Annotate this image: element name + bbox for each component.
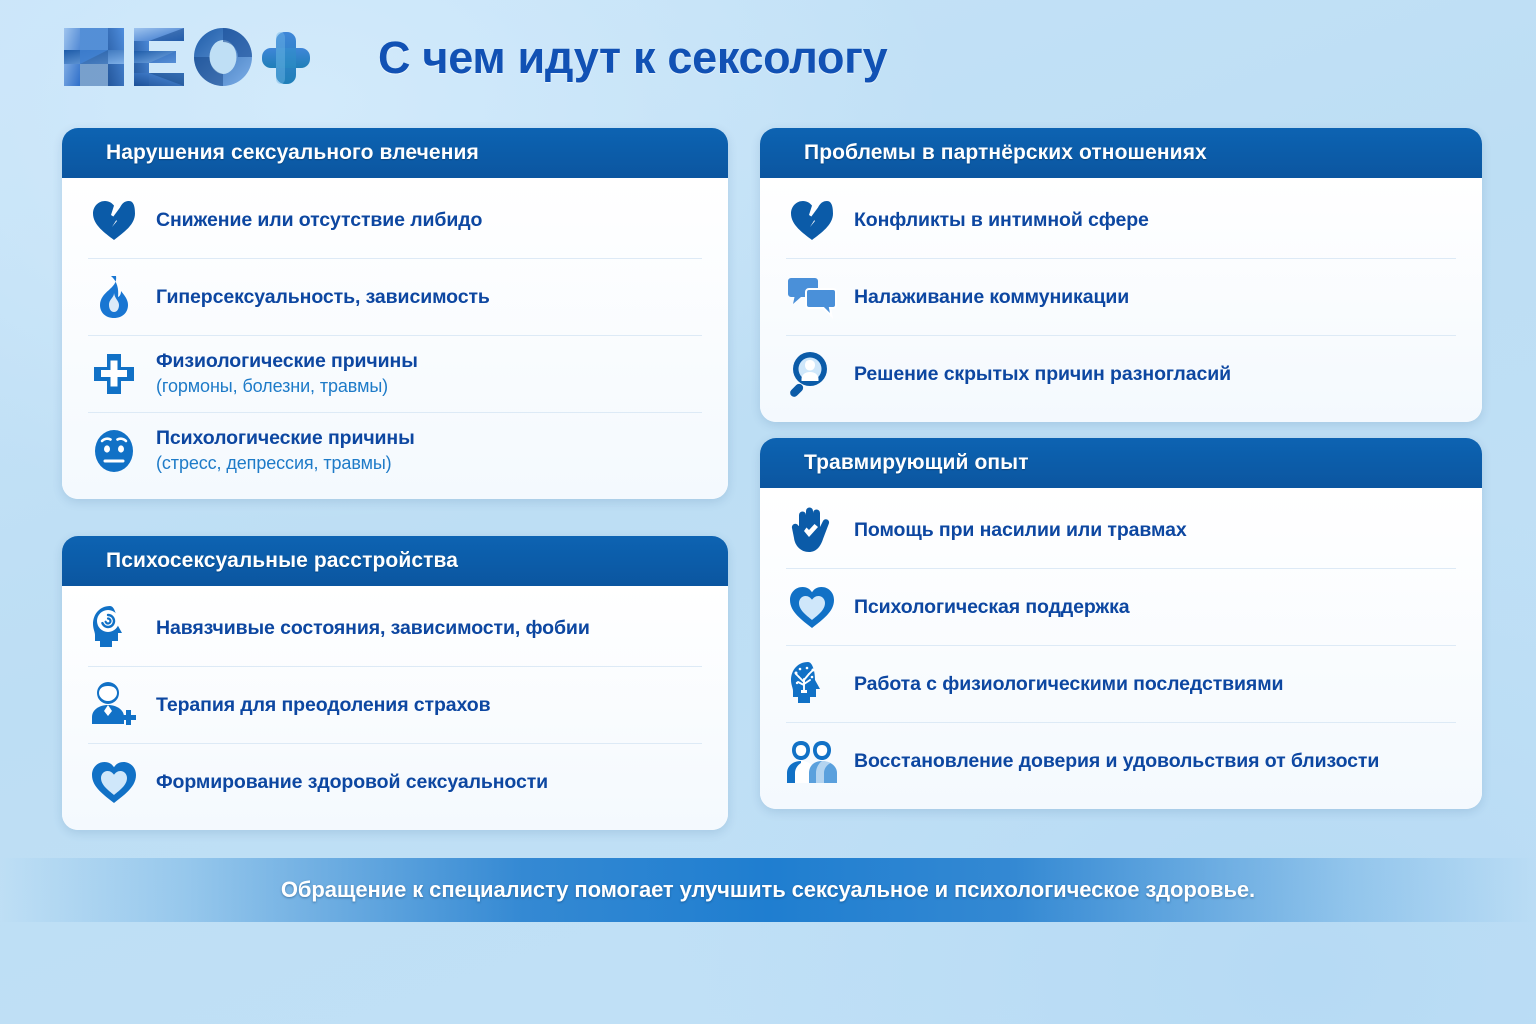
list-item-text: Помощь при насилии или травмах: [854, 519, 1187, 542]
list-item[interactable]: Навязчивые состояния, зависимости, фобии: [88, 590, 702, 667]
list-item-label: Формирование здоровой сексуальности: [156, 771, 548, 794]
list-item-label: Терапия для преодоления страхов: [156, 694, 491, 717]
card-libido-title: Нарушения сексуального влечения: [106, 141, 479, 165]
list-item-text: Снижение или отсутствие либидо: [156, 209, 482, 232]
page-title: С чем идут к сексологу: [378, 22, 1078, 94]
sad-face-icon: [88, 425, 140, 477]
open-hand-icon: [786, 504, 838, 556]
person-plus-icon: [88, 679, 140, 731]
list-item-text: Психологические причины (стресс, депресс…: [156, 427, 415, 475]
card-partner: Проблемы в партнёрских отношениях Конфли…: [760, 128, 1482, 422]
list-item-text: Терапия для преодоления страхов: [156, 694, 491, 717]
list-item[interactable]: Формирование здоровой сексуальности: [88, 744, 702, 820]
list-item-label: Работа с физиологическими последствиями: [854, 673, 1283, 696]
card-libido-body: Снижение или отсутствие либидо Гиперсекс…: [62, 178, 728, 499]
card-libido-header: Нарушения сексуального влечения: [62, 128, 728, 178]
heart-in-heart-icon: [786, 581, 838, 633]
page-header: С чем идут к сексологу: [0, 0, 1536, 112]
card-psychosexual-body: Навязчивые состояния, зависимости, фобии…: [62, 586, 728, 830]
list-item-label: Решение скрытых причин разногласий: [854, 363, 1231, 386]
list-item-text: Решение скрытых причин разногласий: [854, 363, 1231, 386]
list-item-text: Физиологические причины (гормоны, болезн…: [156, 350, 418, 398]
list-item-label: Восстановление доверия и удовольствия от…: [854, 750, 1379, 773]
list-item[interactable]: Работа с физиологическими последствиями: [786, 646, 1456, 723]
list-item[interactable]: Помощь при насилии или травмах: [786, 492, 1456, 569]
head-spiral-icon: [88, 602, 140, 654]
card-libido: Нарушения сексуального влечения Снижение…: [62, 128, 728, 499]
list-item-label: Психологическая поддержка: [854, 596, 1130, 619]
list-item[interactable]: Терапия для преодоления страхов: [88, 667, 702, 744]
footer-message: Обращение к специалисту помогает улучшит…: [281, 877, 1255, 903]
list-item-text: Формирование здоровой сексуальности: [156, 771, 548, 794]
list-item[interactable]: Снижение или отсутствие либидо: [88, 182, 702, 259]
card-partner-title: Проблемы в партнёрских отношениях: [804, 141, 1207, 165]
list-item-sublabel: (стресс, депрессия, травмы): [156, 452, 415, 475]
list-item[interactable]: Психологическая поддержка: [786, 569, 1456, 646]
list-item[interactable]: Конфликты в интимной сфере: [786, 182, 1456, 259]
list-item-label: Конфликты в интимной сфере: [854, 209, 1149, 232]
list-item-label: Налаживание коммуникации: [854, 286, 1129, 309]
card-partner-header: Проблемы в партнёрских отношениях: [760, 128, 1482, 178]
card-trauma-body: Помощь при насилии или травмах Психологи…: [760, 488, 1482, 809]
footer-banner: Обращение к специалисту помогает улучшит…: [0, 858, 1536, 922]
list-item[interactable]: Физиологические причины (гормоны, болезн…: [88, 336, 702, 413]
flame-icon: [88, 271, 140, 323]
list-item[interactable]: Восстановление доверия и удовольствия от…: [786, 723, 1456, 799]
card-partner-body: Конфликты в интимной сфере Налаживание к…: [760, 178, 1482, 422]
list-item-label: Физиологические причины: [156, 350, 418, 373]
head-tree-icon: [786, 658, 838, 710]
list-item-text: Работа с физиологическими последствиями: [854, 673, 1283, 696]
list-item-text: Психологическая поддержка: [854, 596, 1130, 619]
card-psychosexual: Психосексуальные расстройства Навязчивые…: [62, 536, 728, 830]
list-item[interactable]: Гиперсексуальность, зависимость: [88, 259, 702, 336]
list-item-label: Помощь при насилии или травмах: [854, 519, 1187, 542]
list-item-label: Психологические причины: [156, 427, 415, 450]
speech-bubbles-icon: [786, 271, 838, 323]
list-item[interactable]: Психологические причины (стресс, депресс…: [88, 413, 702, 489]
list-item-label: Снижение или отсутствие либидо: [156, 209, 482, 232]
card-psychosexual-header: Психосексуальные расстройства: [62, 536, 728, 586]
card-trauma-header: Травмирующий опыт: [760, 438, 1482, 488]
list-item-text: Налаживание коммуникации: [854, 286, 1129, 309]
card-psychosexual-title: Психосексуальные расстройства: [106, 549, 458, 573]
medical-cross-icon: [88, 348, 140, 400]
card-trauma-title: Травмирующий опыт: [804, 451, 1029, 475]
broken-heart-icon: [786, 194, 838, 246]
card-trauma: Травмирующий опыт Помощь при насилии или…: [760, 438, 1482, 809]
list-item-label: Гиперсексуальность, зависимость: [156, 286, 490, 309]
list-item-sublabel: (гормоны, болезни, травмы): [156, 375, 418, 398]
neo-plus-logo: [60, 22, 310, 94]
broken-heart-icon: [88, 194, 140, 246]
list-item-text: Конфликты в интимной сфере: [854, 209, 1149, 232]
couple-icon: [786, 735, 838, 787]
list-item-text: Восстановление доверия и удовольствия от…: [854, 750, 1379, 773]
list-item-text: Гиперсексуальность, зависимость: [156, 286, 490, 309]
list-item-label: Навязчивые состояния, зависимости, фобии: [156, 617, 590, 640]
list-item-text: Навязчивые состояния, зависимости, фобии: [156, 617, 590, 640]
magnifier-person-icon: [786, 348, 838, 400]
heart-in-heart-icon: [88, 756, 140, 808]
list-item[interactable]: Решение скрытых причин разногласий: [786, 336, 1456, 412]
list-item[interactable]: Налаживание коммуникации: [786, 259, 1456, 336]
